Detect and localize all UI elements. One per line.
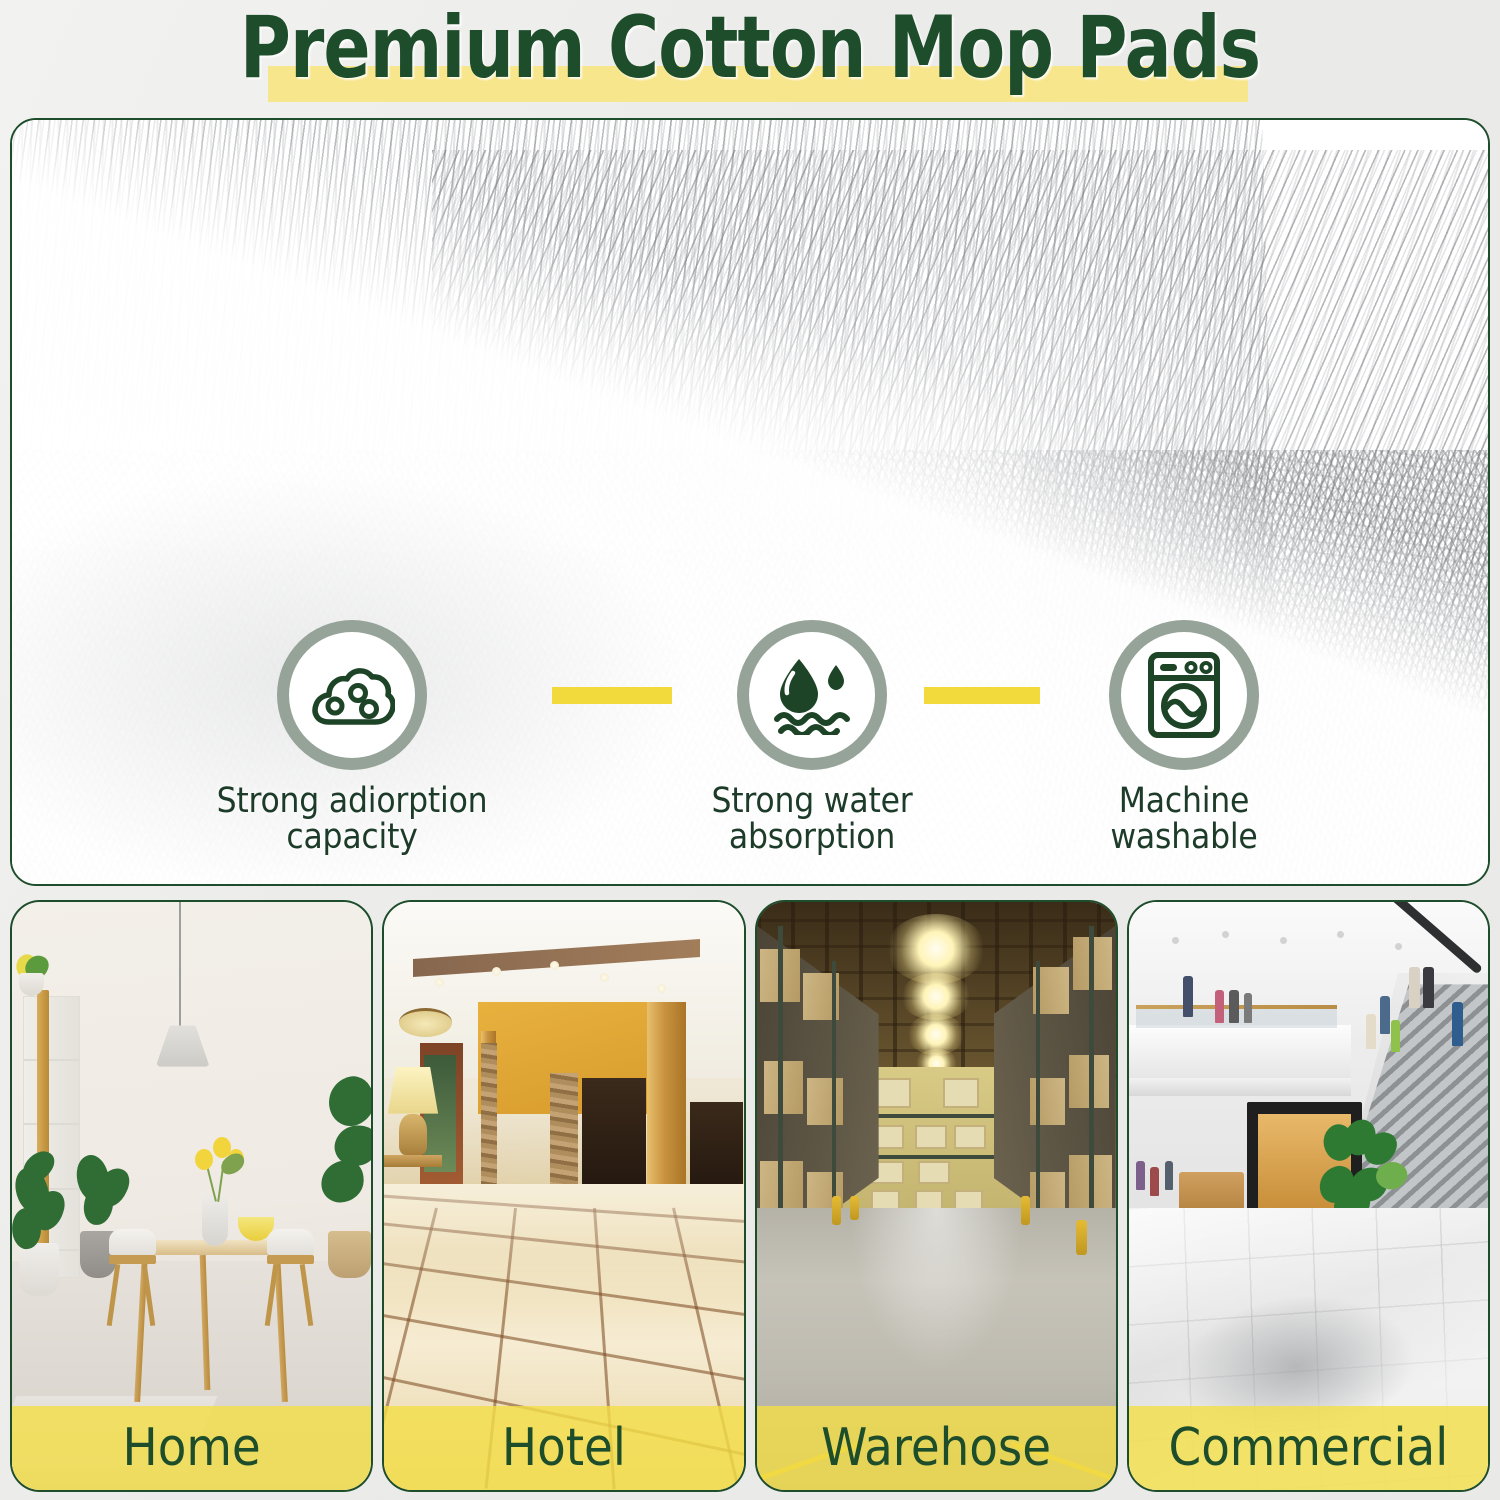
feature-icon-circle xyxy=(1109,620,1259,770)
warehouse-scene-image xyxy=(757,902,1116,1490)
feature-icon-circle xyxy=(277,620,427,770)
feature-icon-circle xyxy=(737,620,887,770)
feature-label-line2: capacity xyxy=(286,817,417,857)
feature-label-line1: Strong water xyxy=(711,781,912,821)
feature-row: Strong adiorption capacity Strong w xyxy=(12,620,1490,886)
card-label: Warehose xyxy=(757,1406,1116,1490)
feature-label-line2: absorption xyxy=(729,817,895,857)
card-label: Home xyxy=(12,1406,371,1490)
use-case-card-home[interactable]: Home xyxy=(10,900,373,1492)
card-label: Commercial xyxy=(1129,1406,1488,1490)
feature-item-water-absorption: Strong water absorption xyxy=(662,620,962,855)
hero-product-panel: Strong adiorption capacity Strong w xyxy=(10,118,1490,886)
hotel-scene-image xyxy=(384,902,743,1490)
feature-connector-1 xyxy=(552,687,672,704)
page-title: Premium Cotton Mop Pads xyxy=(75,2,1425,95)
card-label: Hotel xyxy=(384,1406,743,1490)
feature-item-machine-washable: Machine washable xyxy=(1034,620,1334,855)
feature-label-line1: Machine xyxy=(1119,781,1249,821)
feature-label-line2: washable xyxy=(1110,817,1257,857)
use-case-card-commercial[interactable]: Commercial xyxy=(1127,900,1490,1492)
feature-label-line1: Strong adiorption xyxy=(217,781,488,821)
header-banner: Premium Cotton Mop Pads xyxy=(0,0,1500,112)
sponge-absorption-icon xyxy=(309,660,395,730)
water-droplet-icon xyxy=(769,655,855,735)
commercial-scene-image xyxy=(1129,902,1488,1490)
use-case-card-hotel[interactable]: Hotel xyxy=(382,900,745,1492)
washing-machine-icon xyxy=(1146,651,1222,739)
use-case-card-warehouse[interactable]: Warehose xyxy=(755,900,1118,1492)
feature-label: Strong water absorption xyxy=(662,784,962,855)
feature-label: Strong adiorption capacity xyxy=(202,784,502,855)
use-case-card-row: Home xyxy=(10,900,1490,1492)
feature-item-adsorption: Strong adiorption capacity xyxy=(202,620,502,855)
feature-label: Machine washable xyxy=(1034,784,1334,855)
home-scene-image xyxy=(12,902,371,1490)
